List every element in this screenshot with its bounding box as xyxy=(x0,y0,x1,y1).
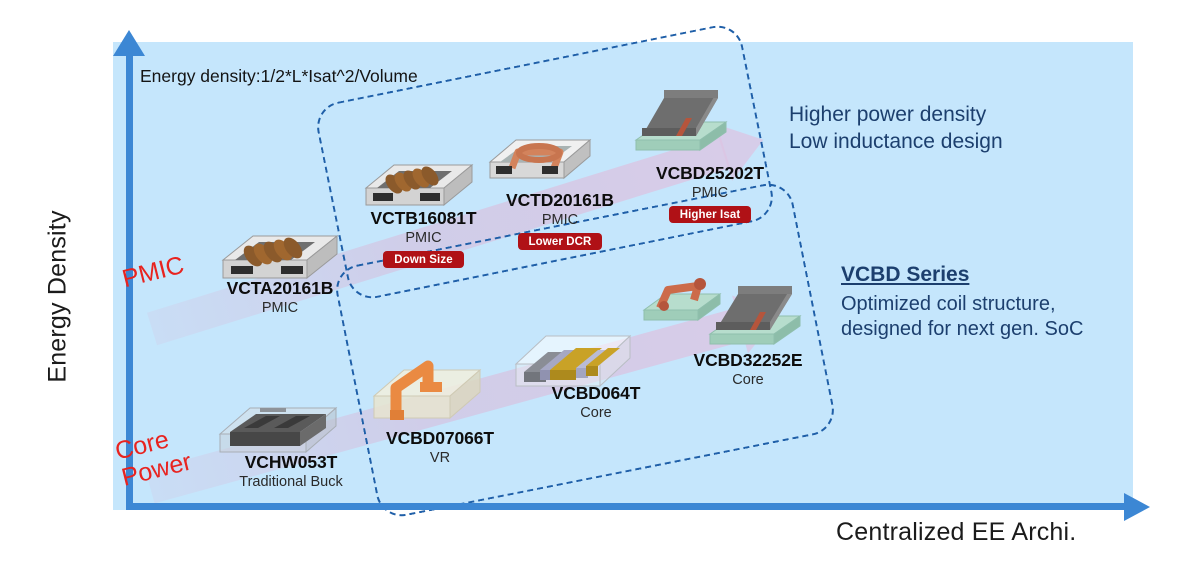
product-badge: Lower DCR xyxy=(518,233,603,250)
product-category: Core xyxy=(658,372,838,388)
product-category: PMIC xyxy=(185,300,375,316)
product-callout-vcbd32252e: VCBD32252E Core xyxy=(658,350,838,388)
diagram-canvas: Energy Density Centralized EE Archi. Ene… xyxy=(0,0,1200,588)
component-image-vcbd32252e xyxy=(704,282,808,356)
product-part-number: VCBD25202T xyxy=(620,163,800,184)
annotation-vcbd-heading: VCBD Series xyxy=(841,262,1083,289)
x-axis-line xyxy=(126,503,1131,510)
component-image-vcbd25202t xyxy=(630,88,734,162)
product-badge: Down Size xyxy=(383,251,463,268)
x-axis-label: Centralized EE Archi. xyxy=(836,518,1076,547)
product-category: Core xyxy=(506,405,686,421)
product-category: VR xyxy=(350,450,530,466)
annotation-top-line2: Low inductance design xyxy=(789,129,1003,156)
product-part-number: VCBD32252E xyxy=(658,350,838,371)
annotation-vcbd-series: VCBD Series Optimized coil structure, de… xyxy=(841,262,1083,343)
product-badge: Higher Isat xyxy=(669,206,752,223)
product-callout-vcbd25202t: VCBD25202T PMIC Higher Isat xyxy=(620,163,800,223)
component-image-vctd20161b xyxy=(486,128,596,188)
product-callout-vcbd07066t: VCBD07066T VR xyxy=(350,428,530,466)
product-part-number: VCTA20161B xyxy=(185,278,375,299)
y-axis-arrowhead xyxy=(113,30,145,56)
product-part-number: VCBD07066T xyxy=(350,428,530,449)
component-image-vcbd07066t xyxy=(368,348,486,434)
product-category: PMIC xyxy=(620,185,800,201)
annotation-bottom-line1: Optimized coil structure, xyxy=(841,292,1083,318)
annotation-top-line1: Higher power density xyxy=(789,102,1003,129)
product-category: Traditional Buck xyxy=(196,474,386,490)
annotation-bottom-line2: designed for next gen. SoC xyxy=(841,317,1083,343)
x-axis-arrowhead xyxy=(1124,493,1150,521)
energy-density-formula: Energy density:1/2*L*Isat^2/Volume xyxy=(140,66,418,87)
product-callout-vcta20161b: VCTA20161B PMIC xyxy=(185,278,375,316)
annotation-higher-power-density: Higher power density Low inductance desi… xyxy=(789,102,1003,156)
product-callout-vcbd064t: VCBD064T Core xyxy=(506,383,686,421)
y-axis-label: Energy Density xyxy=(44,177,73,417)
component-image-vctb16081t xyxy=(362,152,478,214)
